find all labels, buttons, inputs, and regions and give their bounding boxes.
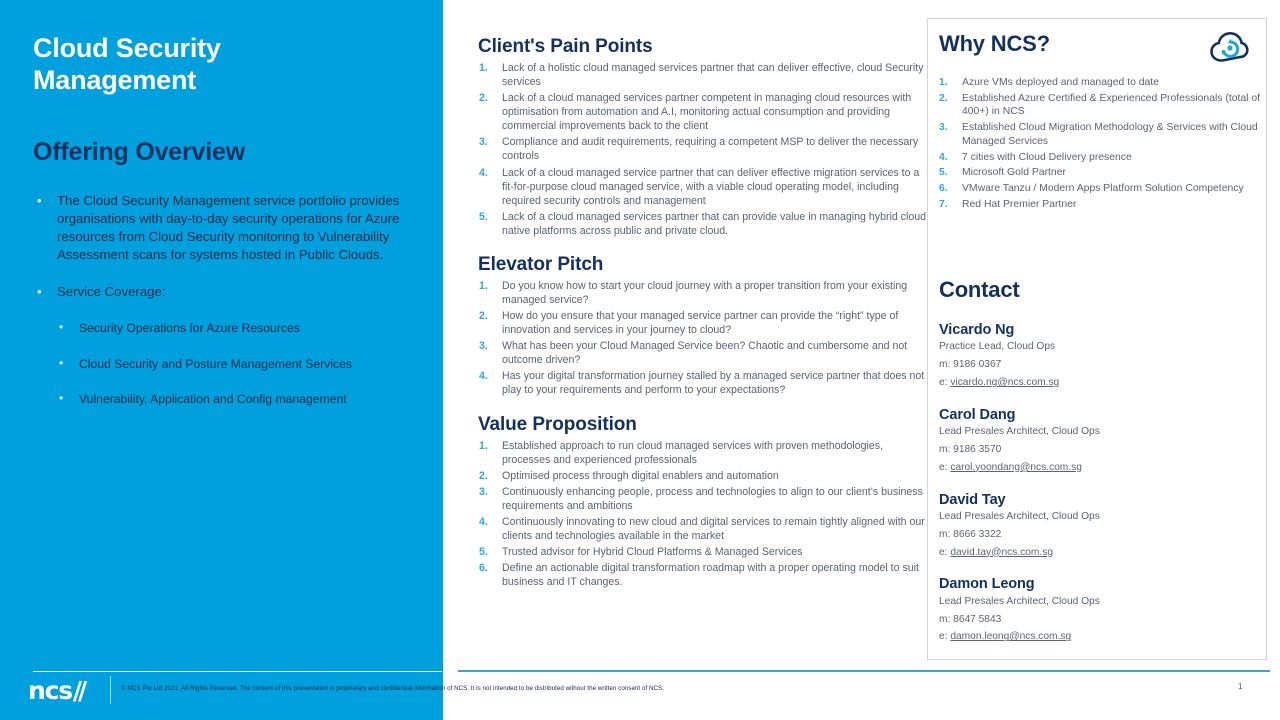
email-prefix: e: [939, 631, 948, 642]
list-number: 7. [939, 198, 948, 212]
list-item: 3.Established Cloud Migration Methodolog… [934, 121, 1264, 148]
elevator-pitch-heading: Elevator Pitch [478, 254, 926, 276]
list-number: 3. [479, 485, 488, 499]
list-number: 2. [939, 92, 948, 106]
copyright-text: © NCS Pte Ltd 2021. All Rights Reserved.… [121, 685, 664, 692]
list-item: 3.Compliance and audit requirements, req… [478, 135, 926, 163]
list-number: 3. [479, 135, 488, 149]
list-item-text: 7 cities with Cloud Delivery presence [962, 152, 1132, 163]
contact-role: Lead Presales Architect, Cloud Ops [939, 510, 1259, 525]
list-item-text: Red Hat Premier Partner [962, 199, 1076, 210]
coverage-bullet: • Service Coverage: [33, 283, 423, 301]
list-number: 2. [479, 469, 488, 483]
list-number: 4. [939, 151, 948, 165]
list-number: 2. [479, 91, 488, 105]
contact-card: Vicardo Ng Practice Lead, Cloud Ops m: 9… [939, 322, 1259, 391]
list-item: 2.Optimised process through digital enab… [478, 469, 926, 483]
list-item: 5.Microsoft Gold Partner [934, 166, 1264, 180]
list-number: 5. [479, 210, 488, 224]
list-number: 6. [479, 561, 488, 575]
page-title: Cloud Security Management [33, 33, 403, 97]
list-item-text: Established Azure Certified & Experience… [962, 93, 1260, 118]
list-item: 3.Continuously enhancing people, process… [478, 485, 926, 513]
coverage-sub-text: Vulnerability, Application and Config ma… [79, 392, 347, 406]
list-item-text: Microsoft Gold Partner [962, 167, 1066, 178]
pain-points-heading: Client's Pain Points [478, 36, 926, 58]
list-item-text: Continuously innovating to new cloud and… [502, 516, 925, 542]
coverage-sub-item: • Security Operations for Azure Resource… [33, 320, 423, 336]
contact-email-link[interactable]: carol.yoondang@ncs.com.sg [950, 462, 1082, 473]
contact-card: Carol Dang Lead Presales Architect, Clou… [939, 407, 1259, 476]
contact-email-row: e: carol.yoondang@ncs.com.sg [939, 460, 1259, 476]
list-number: 4. [479, 515, 488, 529]
list-item-text: Established approach to run cloud manage… [502, 440, 883, 466]
list-item-text: Lack of a holistic cloud managed service… [502, 62, 923, 88]
why-ncs-heading: Why NCS? [939, 31, 1050, 57]
list-item-text: Lack of a cloud managed services partner… [502, 92, 911, 132]
ncs-logo: ncs // [28, 678, 83, 702]
list-item: 1.Azure VMs deployed and managed to date [934, 76, 1264, 90]
left-blue-panel: Cloud Security Management Offering Overv… [0, 0, 443, 720]
email-prefix: e: [939, 377, 948, 388]
list-item-text: VMware Tanzu / Modern Apps Platform Solu… [962, 183, 1244, 194]
ncs-logo-wordmark: ncs [28, 678, 72, 703]
intro-bullet: • The Cloud Security Management service … [33, 192, 423, 264]
page-number: 1 [1238, 682, 1242, 691]
list-item: 5.Trusted advisor for Hybrid Cloud Platf… [478, 545, 926, 559]
list-item-text: Do you know how to start your cloud jour… [502, 280, 907, 306]
contact-email-link[interactable]: damon.leong@ncs.com.sg [950, 631, 1071, 642]
contact-card: David Tay Lead Presales Architect, Cloud… [939, 492, 1259, 561]
contact-name: Damon Leong [939, 576, 1259, 593]
coverage-label: Service Coverage: [57, 284, 165, 299]
list-item: 2.How do you ensure that your managed se… [478, 309, 926, 337]
bullet-dot-icon: • [59, 356, 63, 372]
list-item-text: Continuously enhancing people, process a… [502, 486, 923, 512]
contact-name: David Tay [939, 492, 1259, 509]
list-number: 1. [939, 76, 948, 90]
list-number: 1. [479, 439, 488, 453]
list-number: 6. [939, 182, 948, 196]
contact-name: Carol Dang [939, 407, 1259, 424]
list-number: 3. [479, 339, 488, 353]
contact-mobile: m: 9186 3570 [939, 442, 1259, 458]
list-item-text: Azure VMs deployed and managed to date [962, 77, 1159, 88]
list-item-text: Compliance and audit requirements, requi… [502, 136, 918, 162]
cloud-sync-icon [1209, 29, 1249, 65]
list-number: 1. [479, 61, 488, 75]
bullet-dot-icon: • [59, 320, 63, 336]
list-number: 2. [479, 309, 488, 323]
page-subtitle: Offering Overview [33, 138, 413, 168]
page-title-line2: Management [33, 65, 403, 97]
bullet-dot-icon: • [37, 283, 42, 301]
coverage-sub-item: • Cloud Security and Posture Management … [33, 356, 423, 372]
footer-divider [33, 671, 442, 672]
list-item: 6.Define an actionable digital transform… [478, 561, 926, 589]
bullet-dot-icon: • [59, 391, 63, 407]
list-item: 2.Established Azure Certified & Experien… [934, 92, 1264, 119]
list-item-text: Optimised process through digital enable… [502, 470, 779, 482]
pain-points-list: 1.Lack of a holistic cloud managed servi… [478, 61, 926, 238]
list-item: 4.Continuously innovating to new cloud a… [478, 515, 926, 543]
list-number: 4. [479, 166, 488, 180]
list-item: 3.What has been your Cloud Managed Servi… [478, 339, 926, 367]
contact-email-link[interactable]: vicardo.ng@ncs.com.sg [950, 377, 1059, 388]
why-ncs-list: 1.Azure VMs deployed and managed to date… [934, 76, 1264, 214]
bottom-blue-rule [458, 670, 1270, 672]
list-item: 4.Lack of a cloud managed service partne… [478, 166, 926, 208]
list-item-text: Lack of a cloud managed service partner … [502, 167, 919, 207]
list-item: 2.Lack of a cloud managed services partn… [478, 91, 926, 133]
contact-email-row: e: damon.leong@ncs.com.sg [939, 629, 1259, 645]
value-proposition-list: 1.Established approach to run cloud mana… [478, 439, 926, 590]
list-number: 4. [479, 369, 488, 383]
logo-vertical-divider [110, 676, 111, 704]
contact-email-row: e: vicardo.ng@ncs.com.sg [939, 375, 1259, 391]
list-item: 5.Lack of a cloud managed services partn… [478, 210, 926, 238]
contact-mobile: m: 9186 0367 [939, 357, 1259, 373]
coverage-sub-text: Cloud Security and Posture Management Se… [79, 357, 352, 371]
intro-text: The Cloud Security Management service po… [57, 193, 399, 262]
list-item-text: Lack of a cloud managed services partner… [502, 211, 926, 237]
contact-mobile: m: 8647 5843 [939, 612, 1259, 628]
right-info-panel: Why NCS? 1.Azure VMs deployed and manage… [927, 18, 1267, 660]
list-number: 3. [939, 121, 948, 135]
bullet-dot-icon: • [37, 192, 42, 210]
list-item-text: What has been your Cloud Managed Service… [502, 340, 907, 366]
contact-list: Vicardo Ng Practice Lead, Cloud Ops m: 9… [939, 322, 1259, 661]
list-item-text: Define an actionable digital transformat… [502, 562, 919, 588]
contact-role: Practice Lead, Cloud Ops [939, 340, 1259, 355]
email-prefix: e: [939, 547, 948, 558]
list-number: 5. [479, 545, 488, 559]
list-item-text: How do you ensure that your managed serv… [502, 310, 898, 336]
list-number: 1. [479, 279, 488, 293]
contact-name: Vicardo Ng [939, 322, 1259, 339]
contact-email-link[interactable]: david.tay@ncs.com.sg [950, 547, 1053, 558]
contact-role: Lead Presales Architect, Cloud Ops [939, 595, 1259, 610]
list-number: 5. [939, 166, 948, 180]
left-body-content: • The Cloud Security Management service … [33, 192, 423, 407]
list-item-text: Established Cloud Migration Methodology … [962, 122, 1258, 147]
ncs-logo-slashes-icon: // [73, 678, 83, 703]
list-item: 6.VMware Tanzu / Modern Apps Platform So… [934, 182, 1264, 196]
contact-email-row: e: david.tay@ncs.com.sg [939, 545, 1259, 561]
list-item-text: Trusted advisor for Hybrid Cloud Platfor… [502, 546, 802, 558]
page-title-line1: Cloud Security [33, 33, 403, 65]
coverage-sub-item: • Vulnerability, Application and Config … [33, 391, 423, 407]
list-item: 7.Red Hat Premier Partner [934, 198, 1264, 212]
list-item: 1.Established approach to run cloud mana… [478, 439, 926, 467]
elevator-pitch-list: 1.Do you know how to start your cloud jo… [478, 279, 926, 398]
contact-card: Damon Leong Lead Presales Architect, Clo… [939, 576, 1259, 645]
list-item: 1.Lack of a holistic cloud managed servi… [478, 61, 926, 89]
middle-column: Client's Pain Points 1.Lack of a holisti… [478, 36, 926, 591]
list-item: 1.Do you know how to start your cloud jo… [478, 279, 926, 307]
list-item: 4.Has your digital transformation journe… [478, 369, 926, 397]
list-item: 4.7 cities with Cloud Delivery presence [934, 151, 1264, 165]
slide-canvas: Cloud Security Management Offering Overv… [0, 0, 1280, 720]
contact-role: Lead Presales Architect, Cloud Ops [939, 425, 1259, 440]
value-proposition-heading: Value Proposition [478, 414, 926, 436]
contact-heading: Contact [939, 277, 1020, 303]
list-item-text: Has your digital transformation journey … [502, 370, 924, 396]
contact-mobile: m: 8666 3322 [939, 527, 1259, 543]
coverage-sub-text: Security Operations for Azure Resources [79, 321, 300, 335]
email-prefix: e: [939, 462, 948, 473]
